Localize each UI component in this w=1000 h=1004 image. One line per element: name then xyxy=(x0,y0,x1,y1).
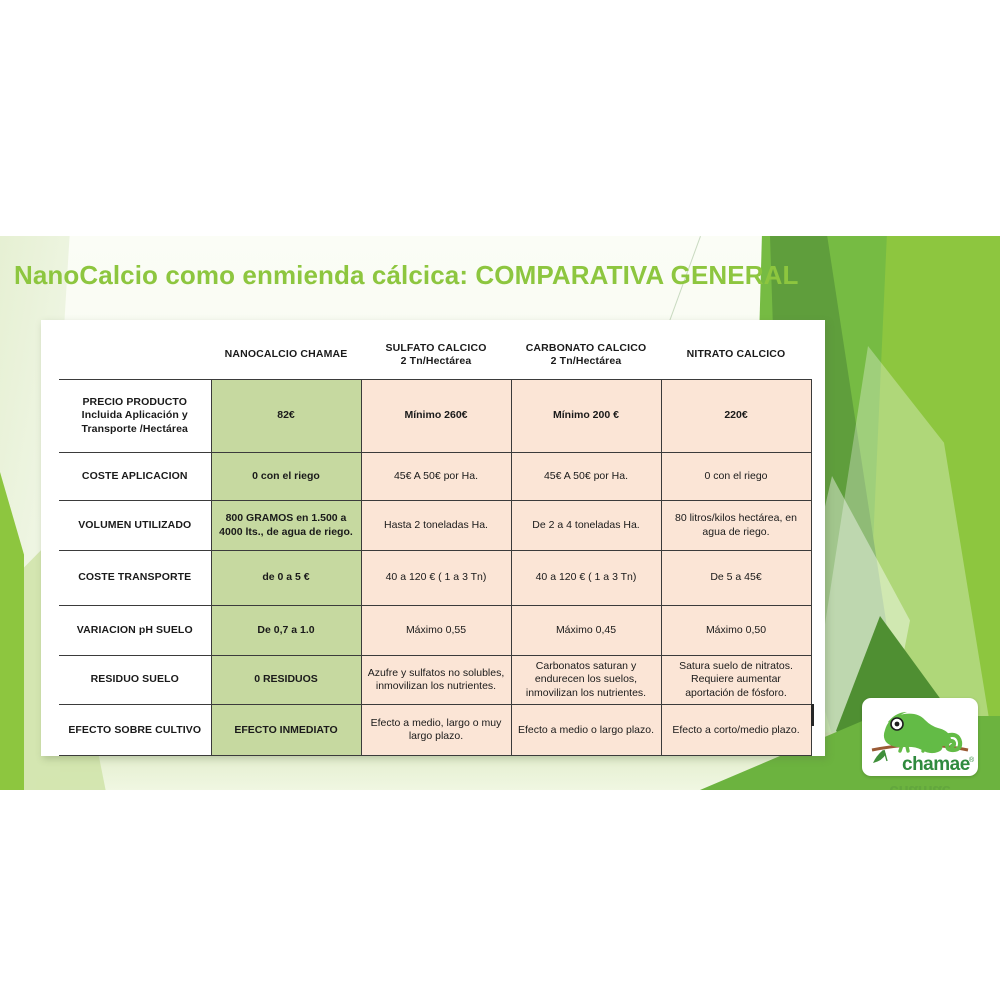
table-row: RESIDUO SUELO 0 RESIDUOS Azufre y sulfat… xyxy=(59,656,811,705)
cell-sulfato-residuo: Azufre y sulfatos no solubles, inmoviliz… xyxy=(361,656,511,705)
row-label-coste-transporte: COSTE TRANSPORTE xyxy=(59,551,211,606)
stray-cursor-mark xyxy=(811,704,814,726)
chamae-logo-reflection: chamae xyxy=(872,779,968,790)
cell-nanocalcio-precio: 82€ xyxy=(211,380,361,453)
cell-nitrato-ph: Máximo 0,50 xyxy=(661,606,811,656)
chamae-logo-artwork: chamae ® xyxy=(862,698,978,776)
cell-carbonato-coste-aplicacion: 45€ A 50€ por Ha. xyxy=(511,453,661,501)
table-row: VARIACION pH SUELO De 0,7 a 1.0 Máximo 0… xyxy=(59,606,811,656)
table-row: COSTE APLICACION 0 con el riego 45€ A 50… xyxy=(59,453,811,501)
column-header-nitrato-title: NITRATO CALCICO xyxy=(665,348,807,361)
chamae-wordmark: chamae xyxy=(902,754,970,775)
column-header-sulfato-subtitle: 2 Tn/Hectárea xyxy=(365,355,507,368)
cell-sulfato-ph: Máximo 0,55 xyxy=(361,606,511,656)
column-header-nanocalcio: NANOCALCIO CHAMAE xyxy=(211,334,361,380)
table-row: PRECIO PRODUCTO Incluida Aplicación y Tr… xyxy=(59,380,811,453)
cell-carbonato-volumen: De 2 a 4 toneladas Ha. xyxy=(511,501,661,551)
cell-carbonato-residuo: Carbonatos saturan y endurecen los suelo… xyxy=(511,656,661,705)
row-label-efecto-sobre-cultivo: EFECTO SOBRE CULTIVO xyxy=(59,705,211,756)
comparison-table: NANOCALCIO CHAMAE SULFATO CALCICO 2 Tn/H… xyxy=(59,334,812,756)
presentation-slide: NanoCalcio como enmienda cálcica: COMPAR… xyxy=(0,236,1000,790)
cell-nitrato-efecto: Efecto a corto/medio plazo. xyxy=(661,705,811,756)
column-header-carbonato-subtitle: 2 Tn/Hectárea xyxy=(515,355,657,368)
row-label-precio-producto: PRECIO PRODUCTO Incluida Aplicación y Tr… xyxy=(59,380,211,453)
cell-carbonato-ph: Máximo 0,45 xyxy=(511,606,661,656)
row-label-line: Transporte /Hectárea xyxy=(63,423,207,436)
cell-carbonato-precio: Mínimo 200 € xyxy=(511,380,661,453)
column-header-carbonato: CARBONATO CALCICO 2 Tn/Hectárea xyxy=(511,334,661,380)
cell-carbonato-efecto: Efecto a medio o largo plazo. xyxy=(511,705,661,756)
table-header: NANOCALCIO CHAMAE SULFATO CALCICO 2 Tn/H… xyxy=(59,334,811,380)
column-header-nitrato: NITRATO CALCICO xyxy=(661,334,811,380)
column-header-blank xyxy=(59,334,211,380)
table-row: EFECTO SOBRE CULTIVO EFECTO INMEDIATO Ef… xyxy=(59,705,811,756)
cell-sulfato-transporte: 40 a 120 € ( 1 a 3 Tn) xyxy=(361,551,511,606)
cell-nitrato-transporte: De 5 a 45€ xyxy=(661,551,811,606)
row-label-residuo-suelo: RESIDUO SUELO xyxy=(59,656,211,705)
row-label-coste-aplicacion: COSTE APLICACION xyxy=(59,453,211,501)
cell-nitrato-coste-aplicacion: 0 con el riego xyxy=(661,453,811,501)
row-label-line: PRECIO PRODUCTO xyxy=(63,396,207,409)
cell-nanocalcio-residuo: 0 RESIDUOS xyxy=(211,656,361,705)
cell-nanocalcio-transporte: de 0 a 5 € xyxy=(211,551,361,606)
cell-nanocalcio-volumen: 800 GRAMOS en 1.500 a 4000 lts., de agua… xyxy=(211,501,361,551)
cell-sulfato-efecto: Efecto a medio, largo o muy largo plazo. xyxy=(361,705,511,756)
registered-mark-icon: ® xyxy=(969,756,975,764)
cell-nitrato-residuo: Satura suelo de nitratos. Requiere aumen… xyxy=(661,656,811,705)
column-header-nanocalcio-title: NANOCALCIO CHAMAE xyxy=(215,348,357,361)
row-label-volumen-utilizado: VOLUMEN UTILIZADO xyxy=(59,501,211,551)
cell-sulfato-precio: Mínimo 260€ xyxy=(361,380,511,453)
cell-sulfato-coste-aplicacion: 45€ A 50€ por Ha. xyxy=(361,453,511,501)
table-row: VOLUMEN UTILIZADO 800 GRAMOS en 1.500 a … xyxy=(59,501,811,551)
column-header-carbonato-title: CARBONATO CALCICO xyxy=(515,342,657,355)
cell-carbonato-transporte: 40 a 120 € ( 1 a 3 Tn) xyxy=(511,551,661,606)
chamae-logo: chamae ® xyxy=(862,698,978,776)
page-title: NanoCalcio como enmienda cálcica: COMPAR… xyxy=(14,260,854,291)
comparison-card: NANOCALCIO CHAMAE SULFATO CALCICO 2 Tn/H… xyxy=(41,320,825,756)
table-row: COSTE TRANSPORTE de 0 a 5 € 40 a 120 € (… xyxy=(59,551,811,606)
cell-nanocalcio-ph: De 0,7 a 1.0 xyxy=(211,606,361,656)
cell-nitrato-volumen: 80 litros/kilos hectárea, en agua de rie… xyxy=(661,501,811,551)
cell-nitrato-precio: 220€ xyxy=(661,380,811,453)
table-header-row: NANOCALCIO CHAMAE SULFATO CALCICO 2 Tn/H… xyxy=(59,334,811,380)
cell-nanocalcio-coste-aplicacion: 0 con el riego xyxy=(211,453,361,501)
row-label-line: Incluida Aplicación y xyxy=(63,409,207,422)
cell-sulfato-volumen: Hasta 2 toneladas Ha. xyxy=(361,501,511,551)
table-body: PRECIO PRODUCTO Incluida Aplicación y Tr… xyxy=(59,380,811,756)
row-label-variacion-ph: VARIACION pH SUELO xyxy=(59,606,211,656)
column-header-sulfato-title: SULFATO CALCICO xyxy=(365,342,507,355)
column-header-sulfato: SULFATO CALCICO 2 Tn/Hectárea xyxy=(361,334,511,380)
cell-nanocalcio-efecto: EFECTO INMEDIATO xyxy=(211,705,361,756)
